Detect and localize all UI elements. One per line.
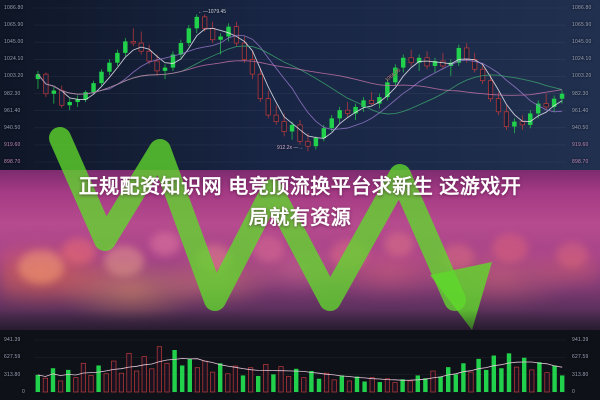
volume-bar [112, 361, 116, 392]
volume-bar [355, 377, 359, 392]
title-line-1: 正规配资知识网 电竞顶流换平台求新生 这游戏开 [0, 172, 600, 203]
volume-bar [370, 378, 374, 392]
axis-tick-label: 313.80 [4, 372, 21, 378]
volume-bar [180, 365, 184, 392]
volume-bar [203, 361, 207, 392]
volume-bar [469, 372, 473, 392]
volume-bar [157, 347, 161, 392]
volume-chart-svg [0, 330, 600, 400]
axis-tick-label: 941.39 [4, 337, 21, 343]
volume-bar [81, 363, 85, 392]
axis-tick-label: 941.39 [572, 337, 589, 343]
volume-bar [172, 350, 176, 392]
volume-bar [522, 358, 526, 392]
volume-bar [537, 362, 541, 392]
volume-bar [378, 382, 382, 392]
volume-bar [233, 366, 237, 392]
volume-bar [127, 353, 131, 392]
volume-bar [499, 368, 503, 392]
volume-bar [66, 370, 70, 392]
page-title: 正规配资知识网 电竞顶流换平台求新生 这游戏开 局就有资源 [0, 172, 600, 234]
volume-bar [248, 368, 252, 392]
volume-bar [431, 371, 435, 392]
axis-tick-label: 627.59 [572, 354, 589, 360]
volume-bar [294, 369, 298, 392]
title-line-2: 局就有资源 [0, 203, 600, 234]
volume-bar [134, 371, 138, 392]
annotation-low: 912.2x —→ [277, 145, 303, 151]
volume-bar [142, 357, 146, 392]
volume-bar [362, 382, 366, 392]
volume-bar [476, 359, 480, 392]
volume-bar [560, 375, 564, 392]
volume-bar [96, 365, 100, 392]
volume-bar [514, 367, 518, 392]
volume-bar [507, 353, 511, 392]
volume-bar [461, 363, 465, 392]
volume-bar [530, 370, 534, 392]
stock-chart-banner: 1086.801065.901045.001024.101003.20982.3… [0, 0, 600, 400]
volume-bar [324, 373, 328, 392]
volume-bar [552, 365, 556, 392]
volume-bar [264, 364, 268, 392]
volume-bar [226, 374, 230, 392]
volume-bar [309, 371, 313, 392]
axis-tick-label: 313.80 [572, 372, 589, 378]
volume-bar [74, 378, 78, 392]
volume-bar [484, 370, 488, 392]
volume-bar [58, 381, 62, 392]
volume-bar [188, 359, 192, 392]
volume-bar [408, 381, 412, 392]
volume-bar [332, 380, 336, 392]
volume-bar [545, 373, 549, 392]
volume-bar [385, 379, 389, 392]
volume-bar [423, 378, 427, 392]
volume-bar [400, 379, 404, 392]
axis-tick-label: 627.59 [4, 354, 21, 360]
volume-bar [286, 377, 290, 392]
volume-bar [165, 363, 169, 392]
volume-bar [43, 378, 47, 392]
volume-bar [218, 363, 222, 392]
volume-bar [446, 367, 450, 392]
volume-bar [454, 374, 458, 392]
volume-bar [36, 375, 40, 392]
volume-bar [119, 373, 123, 392]
volume-bar [195, 368, 199, 392]
volume-bar [256, 376, 260, 392]
volume-bar [51, 368, 55, 392]
volume-bar [317, 379, 321, 392]
volume-bar [416, 375, 420, 392]
volume-bar [89, 375, 93, 392]
volume-bar [210, 372, 214, 392]
volume-bar [150, 369, 154, 392]
volume-bar [104, 374, 108, 392]
volume-bar [271, 374, 275, 392]
volume-bar [492, 356, 496, 392]
volume-bar [347, 381, 351, 392]
volume-bar [438, 377, 442, 392]
volume-bar [302, 378, 306, 392]
axis-tick-label: 0 [22, 389, 25, 395]
axis-tick-label: 0 [572, 389, 575, 395]
volume-chart-panel: 941.39627.59313.800 941.39627.59313.800 [0, 330, 600, 400]
volume-bar [340, 375, 344, 392]
volume-bar [241, 375, 245, 392]
volume-bar [393, 383, 397, 392]
